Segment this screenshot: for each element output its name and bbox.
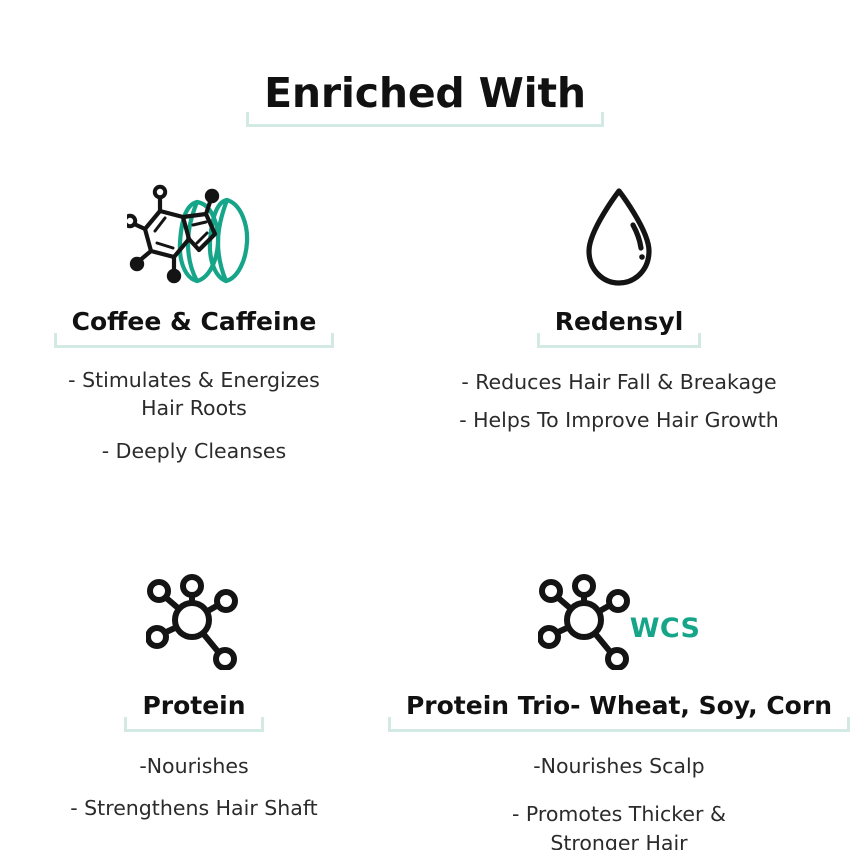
page-title-row: Enriched With: [0, 72, 850, 127]
ingredient-card-coffee-caffeine: Coffee & Caffeine - Stimulates & Energiz…: [0, 170, 388, 526]
label-bracket-wrap: Protein Trio- Wheat, Soy, Corn: [388, 692, 850, 732]
label-container: Coffee & Caffeine: [54, 308, 335, 348]
benefit-item: - Deeply Cleanses: [68, 437, 320, 466]
wcs-badge-label: WCS: [630, 613, 700, 644]
label-container: Redensyl: [537, 308, 702, 348]
benefit-item: -Nourishes Scalp: [512, 752, 726, 781]
ingredient-label: Redensyl: [555, 307, 684, 336]
ingredient-card-redensyl: Redensyl - Reduces Hair Fall & Breakage …: [388, 170, 850, 526]
molecule-network-icon: [146, 572, 242, 670]
label-container: Protein Trio- Wheat, Soy, Corn: [388, 692, 850, 732]
benefit-item: - Helps To Improve Hair Growth: [459, 406, 779, 435]
ingredient-label: Protein: [142, 691, 245, 720]
page-title-bracket-wrap: Enriched With: [246, 72, 604, 127]
benefit-item: - Promotes Thicker & Stronger Hair: [512, 800, 726, 850]
caffeine-molecule-coffee-beans-icon: [127, 181, 261, 293]
label-bracket-wrap: Coffee & Caffeine: [54, 308, 335, 348]
enriched-with-infographic: Enriched With: [0, 0, 850, 850]
ingredient-label: Protein Trio- Wheat, Soy, Corn: [406, 691, 832, 720]
water-droplet-icon: [583, 185, 655, 289]
benefit-list: - Stimulates & Energizes Hair Roots - De…: [68, 366, 320, 466]
icon-container: WCS: [538, 560, 700, 682]
icon-container: [583, 176, 655, 298]
benefit-list: - Reduces Hair Fall & Breakage - Helps T…: [459, 368, 779, 435]
benefit-item: -Nourishes: [70, 752, 317, 781]
molecule-network-icon: [538, 572, 634, 670]
benefit-item: - Strengthens Hair Shaft: [70, 794, 317, 823]
icon-container: [146, 560, 242, 682]
label-bracket-wrap: Redensyl: [537, 308, 702, 348]
label-container: Protein: [124, 692, 263, 732]
benefit-item: - Reduces Hair Fall & Breakage: [459, 368, 779, 397]
page-title: Enriched With: [264, 69, 586, 117]
icon-with-badge: WCS: [538, 572, 700, 670]
benefit-item: - Stimulates & Energizes Hair Roots: [68, 366, 320, 423]
droplet-shine-dot: [639, 254, 645, 260]
icon-container: [127, 176, 261, 298]
ingredients-grid: Coffee & Caffeine - Stimulates & Energiz…: [0, 170, 850, 850]
label-bracket-wrap: Protein: [124, 692, 263, 732]
benefit-list: -Nourishes Scalp - Promotes Thicker & St…: [512, 752, 726, 850]
ingredient-card-protein-trio: WCS Protein Trio- Wheat, Soy, Corn -Nour…: [388, 526, 850, 850]
benefit-list: -Nourishes - Strengthens Hair Shaft: [70, 752, 317, 823]
ingredient-card-protein: Protein -Nourishes - Strengthens Hair Sh…: [0, 526, 388, 850]
ingredient-label: Coffee & Caffeine: [72, 307, 317, 336]
